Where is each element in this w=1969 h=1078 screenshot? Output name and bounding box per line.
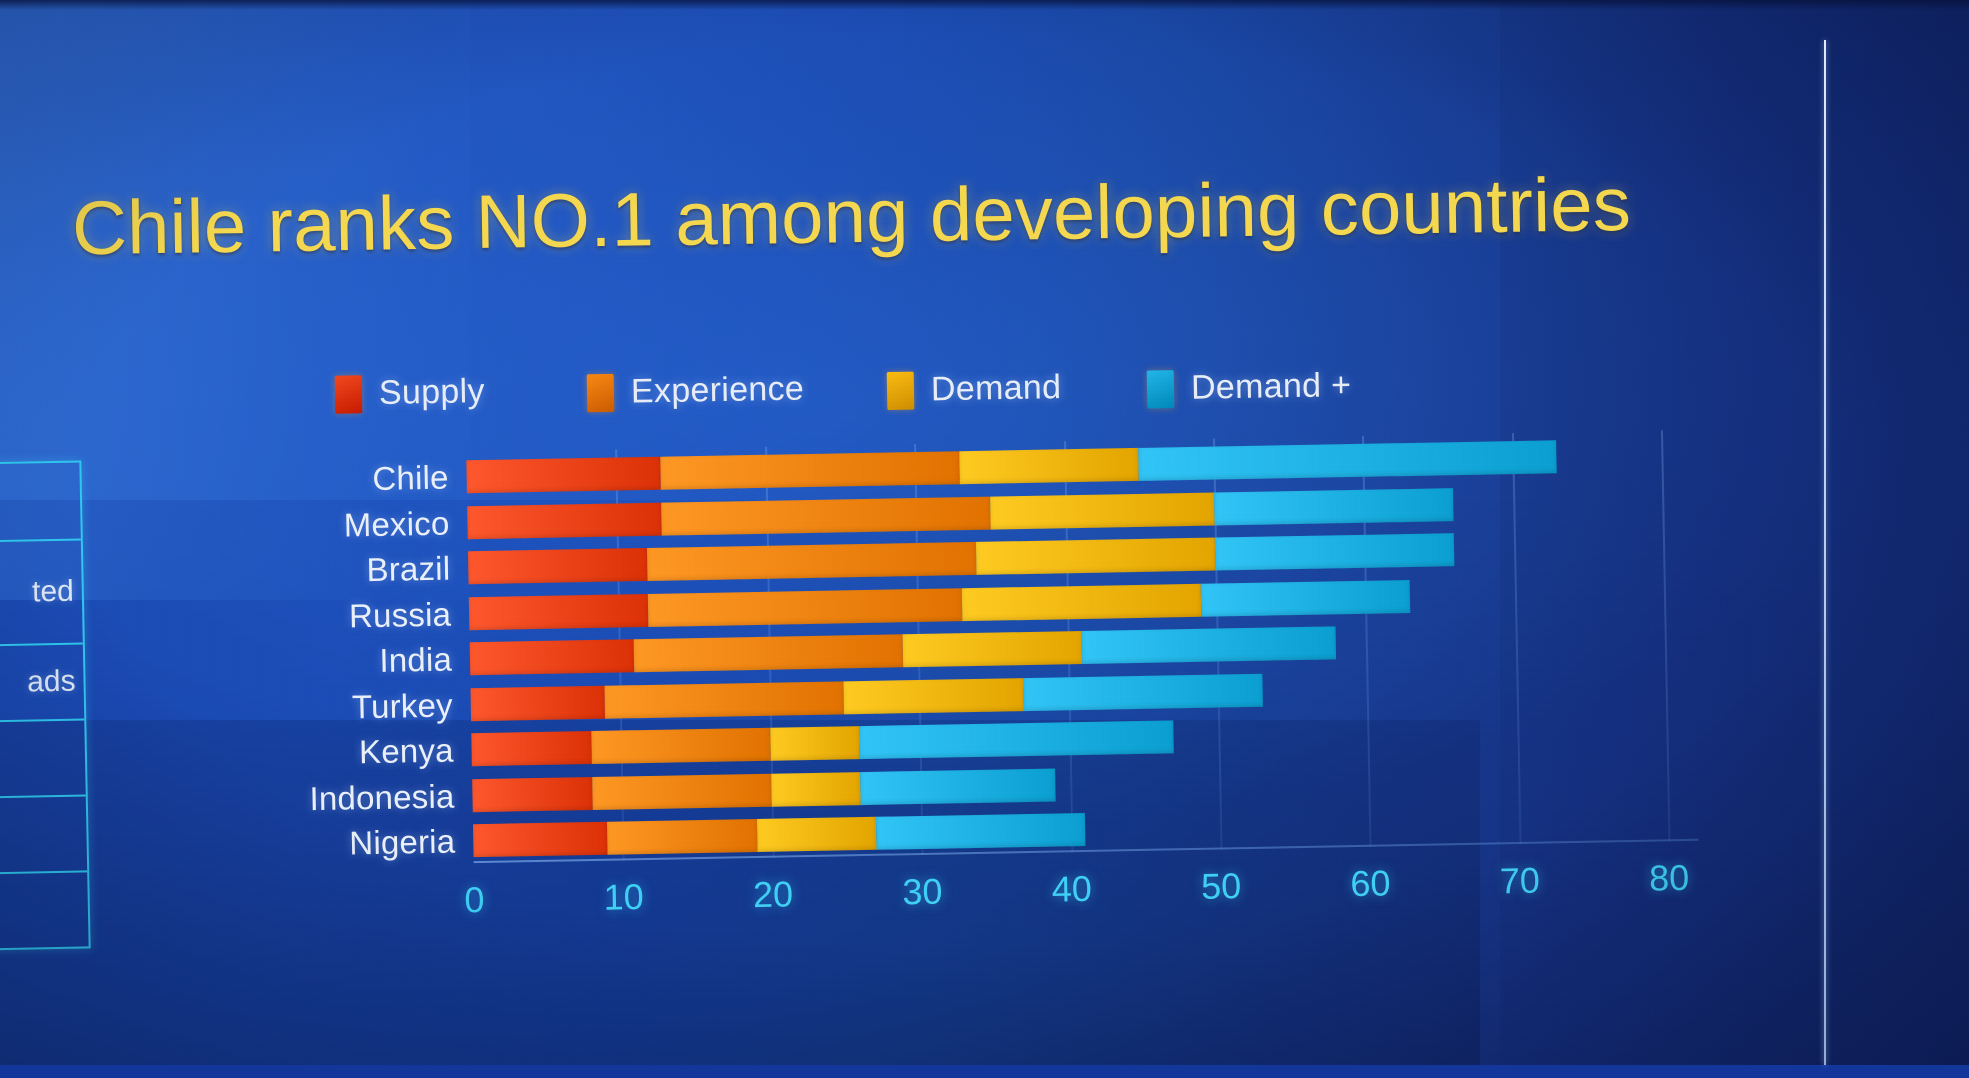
x-tick-label-50: 50 (1201, 865, 1242, 908)
bar-segment-demand (1138, 440, 1557, 481)
bar-segment-demand (770, 726, 860, 761)
bar-segment-supply (470, 639, 635, 675)
bar-segment-demand (876, 813, 1086, 850)
bar-segment-supply (468, 548, 648, 584)
bar-row-turkey (470, 673, 1262, 721)
bar-row-chile (466, 440, 1557, 493)
stacked-bar-chart: ChileMexicoBrazilRussiaIndiaTurkeyKenyaI… (0, 0, 1969, 1078)
side-table-row (0, 872, 89, 949)
screen-edge-line (1824, 40, 1826, 1065)
category-label-india: India (379, 641, 452, 680)
category-label-kenya: Kenya (359, 732, 454, 772)
x-tick-label-40: 40 (1051, 868, 1092, 911)
bar-row-india (470, 626, 1337, 675)
bar-segment-supply (471, 731, 591, 766)
bar-segment-experience (661, 496, 990, 535)
gridline-80 (1661, 430, 1671, 841)
bar-segment-demand (844, 678, 1024, 714)
bar-segment-demand (990, 492, 1215, 529)
bar-segment-demand (903, 631, 1083, 667)
bar-segment-experience (607, 819, 757, 855)
bar-segment-experience (591, 728, 771, 764)
bar-segment-demand (1023, 673, 1263, 710)
bar-segment-supply (469, 593, 649, 629)
bar-segment-demand (959, 448, 1139, 484)
category-label-russia: Russia (349, 595, 452, 635)
bar-segment-demand (860, 768, 1055, 805)
bar-segment-demand (771, 772, 861, 807)
bar-segment-demand (1201, 579, 1411, 616)
bar-segment-experience (660, 451, 959, 489)
x-tick-label-0: 0 (464, 879, 485, 921)
bar-segment-demand (976, 538, 1216, 575)
bar-segment-supply (466, 457, 661, 494)
bar-segment-experience (592, 773, 772, 809)
side-table-row (0, 463, 81, 544)
category-label-indonesia: Indonesia (309, 777, 455, 818)
x-tick-label-20: 20 (753, 873, 794, 916)
bar-row-nigeria (473, 813, 1086, 857)
side-table-row (0, 720, 86, 799)
screen-edge-top (0, 0, 1969, 10)
bar-segment-experience (634, 634, 903, 672)
x-tick-label-60: 60 (1350, 862, 1391, 905)
bar-row-indonesia (472, 768, 1055, 812)
gridline-70 (1512, 433, 1522, 844)
bar-segment-supply (473, 822, 608, 857)
bar-segment-demand (1082, 626, 1336, 664)
bar-segment-supply (472, 777, 592, 812)
side-table-row: ads (0, 644, 84, 723)
side-table-row (0, 796, 87, 875)
x-tick-label-70: 70 (1499, 860, 1540, 903)
bar-segment-demand (757, 817, 877, 852)
category-label-brazil: Brazil (366, 550, 450, 590)
x-tick-label-80: 80 (1649, 857, 1690, 900)
side-table-row: ted (0, 540, 83, 647)
category-label-turkey: Turkey (352, 686, 454, 726)
category-label-chile: Chile (372, 459, 449, 498)
bar-segment-demand (1214, 488, 1454, 525)
bar-segment-supply (470, 685, 605, 720)
bar-segment-demand (860, 720, 1174, 759)
presentation-slide: Chile ranks NO.1 among developing countr… (0, 0, 1969, 1065)
side-table-cropped: tedads (0, 460, 91, 951)
bar-row-mexico (467, 488, 1453, 539)
bar-segment-experience (648, 588, 962, 627)
bar-segment-supply (467, 502, 662, 539)
category-label-nigeria: Nigeria (349, 823, 456, 863)
x-tick-label-10: 10 (603, 876, 644, 919)
category-label-mexico: Mexico (343, 504, 449, 544)
bar-segment-demand (1215, 533, 1455, 570)
x-tick-label-30: 30 (902, 871, 943, 914)
bar-segment-demand (962, 583, 1202, 620)
bar-segment-experience (605, 681, 845, 718)
bar-segment-experience (647, 542, 976, 581)
bar-row-russia (469, 579, 1411, 629)
bar-row-brazil (468, 533, 1454, 584)
